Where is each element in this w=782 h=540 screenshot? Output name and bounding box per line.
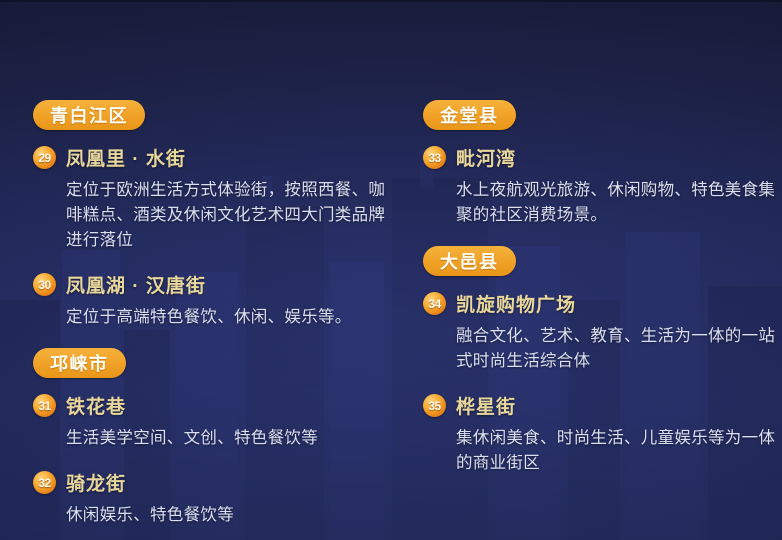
venue-entry-29[interactable]: 29 凤凰里 · 水街 定位于欧洲生活方式体验街，按照西餐、咖啡糕点、酒类及休闲… [33,144,405,253]
venue-desc-32: 休闲娱乐、特色餐饮等 [66,503,396,528]
venue-head: 31 铁花巷 [33,392,405,419]
number-badge-35: 35 [423,394,446,417]
venue-head: 32 骑龙街 [33,469,405,496]
venue-head: 35 桦星街 [423,392,782,419]
venue-entry-35[interactable]: 35 桦星街 集休闲美食、时尚生活、儿童娱乐等为一体的商业街区 [423,392,782,476]
venue-title-35: 桦星街 [456,392,516,419]
venue-entry-33[interactable]: 33 毗河湾 水上夜航观光旅游、休闲购物、特色美食集聚的社区消费场景。 [423,144,782,228]
district-group-qionglai: 邛崃市 31 铁花巷 生活美学空间、文创、特色餐饮等 32 骑龙街 休闲娱乐、特… [33,348,405,528]
right-column: 金堂县 33 毗河湾 水上夜航观光旅游、休闲购物、特色美食集聚的社区消费场景。 … [423,0,782,540]
venue-head: 30 凤凰湖 · 汉唐街 [33,271,405,298]
district-pill-wrap: 大邑县 [423,246,782,276]
number-badge-33: 33 [423,146,446,169]
venue-entry-34[interactable]: 34 凯旋购物广场 融合文化、艺术、教育、生活为一体的一站式时尚生活综合体 [423,290,782,374]
venue-head: 33 毗河湾 [423,144,782,171]
number-badge-31: 31 [33,394,56,417]
poster-canvas: 青白江区 29 凤凰里 · 水街 定位于欧洲生活方式体验街，按照西餐、咖啡糕点、… [0,0,782,540]
number-badge-34: 34 [423,292,446,315]
venue-title-31: 铁花巷 [66,392,126,419]
district-pill-wrap: 青白江区 [33,100,405,130]
venue-head: 34 凯旋购物广场 [423,290,782,317]
venue-desc-33: 水上夜航观光旅游、休闲购物、特色美食集聚的社区消费场景。 [456,178,782,228]
district-group-dayi: 大邑县 34 凯旋购物广场 融合文化、艺术、教育、生活为一体的一站式时尚生活综合… [423,246,782,476]
left-column: 青白江区 29 凤凰里 · 水街 定位于欧洲生活方式体验街，按照西餐、咖啡糕点、… [33,0,405,540]
venue-title-32: 骑龙街 [66,469,126,496]
venue-desc-31: 生活美学空间、文创、特色餐饮等 [66,426,396,451]
venue-desc-35: 集休闲美食、时尚生活、儿童娱乐等为一体的商业街区 [456,426,782,476]
district-pill-qionglai[interactable]: 邛崃市 [33,348,126,378]
district-group-jintang: 金堂县 33 毗河湾 水上夜航观光旅游、休闲购物、特色美食集聚的社区消费场景。 [423,100,782,228]
venue-desc-30: 定位于高端特色餐饮、休闲、娱乐等。 [66,305,396,330]
venue-head: 29 凤凰里 · 水街 [33,144,405,171]
district-pill-qingbaijiang[interactable]: 青白江区 [33,100,145,130]
number-badge-30: 30 [33,273,56,296]
district-pill-wrap: 邛崃市 [33,348,405,378]
content-columns: 青白江区 29 凤凰里 · 水街 定位于欧洲生活方式体验街，按照西餐、咖啡糕点、… [0,0,782,540]
number-badge-32: 32 [33,471,56,494]
venue-title-29: 凤凰里 · 水街 [66,144,186,171]
district-pill-wrap: 金堂县 [423,100,782,130]
venue-entry-32[interactable]: 32 骑龙街 休闲娱乐、特色餐饮等 [33,469,405,528]
venue-title-30: 凤凰湖 · 汉唐街 [66,271,206,298]
district-group-qingbaijiang: 青白江区 29 凤凰里 · 水街 定位于欧洲生活方式体验街，按照西餐、咖啡糕点、… [33,100,405,330]
venue-desc-29: 定位于欧洲生活方式体验街，按照西餐、咖啡糕点、酒类及休闲文化艺术四大门类品牌进行… [66,178,396,253]
venue-desc-34: 融合文化、艺术、教育、生活为一体的一站式时尚生活综合体 [456,324,782,374]
venue-title-33: 毗河湾 [456,144,516,171]
number-badge-29: 29 [33,146,56,169]
venue-entry-30[interactable]: 30 凤凰湖 · 汉唐街 定位于高端特色餐饮、休闲、娱乐等。 [33,271,405,330]
venue-title-34: 凯旋购物广场 [456,290,576,317]
district-pill-jintang[interactable]: 金堂县 [423,100,516,130]
venue-entry-31[interactable]: 31 铁花巷 生活美学空间、文创、特色餐饮等 [33,392,405,451]
district-pill-dayi[interactable]: 大邑县 [423,246,516,276]
